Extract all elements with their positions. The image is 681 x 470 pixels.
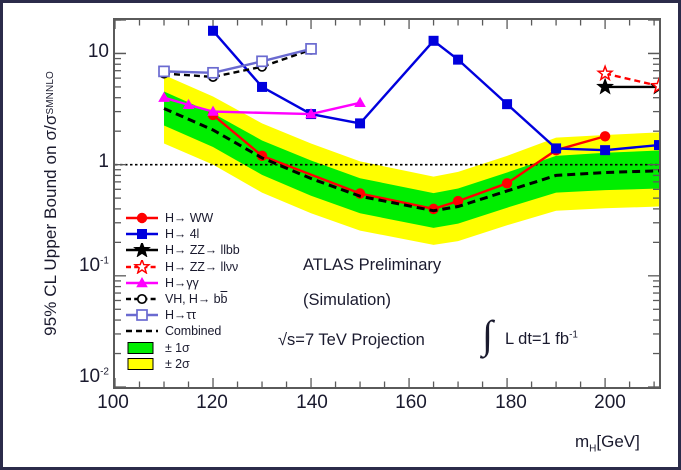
integral-icon: ∫ (482, 315, 493, 355)
x-tick-100: 100 (83, 393, 143, 412)
x-axis-title: mH[GeV] (575, 432, 640, 452)
legend-label: ± 1σ (161, 341, 190, 355)
y-tick-10: 10 (88, 42, 109, 61)
band-swatch-icon (123, 357, 161, 371)
y-tick-0.1: 10-1 (79, 256, 109, 275)
legend-item: ± 2σ (123, 356, 273, 372)
legend-label: H→γγ (161, 276, 199, 290)
x-tick-160: 160 (381, 393, 441, 412)
legend-label: H→ 4l (161, 227, 199, 241)
annotation-atlas-preliminary: ATLAS Preliminary (303, 256, 441, 275)
x-axis-tick-labels: 100 120 140 160 180 200 (0, 393, 681, 421)
chart-legend: H→ WWH→ 4lH→ ZZ→ llbbH→ ZZ→ llννH→γγVH, … (123, 210, 273, 372)
band-swatch-icon (123, 341, 161, 355)
x-tick-180: 180 (481, 393, 541, 412)
annotation-energy-projection: √s=7 TeV Projection (278, 331, 425, 350)
series-h-zz-llbb (598, 80, 659, 93)
x-tick-120: 120 (182, 393, 242, 412)
line-marker-open-star-icon (123, 260, 161, 274)
legend-label: Combined (161, 324, 221, 338)
x-tick-200: 200 (580, 393, 640, 412)
legend-item: H→ ZZ→ llbb (123, 242, 273, 258)
legend-item: H→ ZZ→ llνν (123, 259, 273, 275)
y-tick-1: 1 (98, 152, 109, 171)
legend-item: H→ 4l (123, 226, 273, 242)
line-marker-open-circle-icon (123, 292, 161, 306)
series-vh-h-bb (160, 46, 315, 82)
line-marker-filled-circle-icon (123, 211, 161, 225)
legend-item: VH, H→ bb (123, 291, 273, 307)
legend-label: H→ττ (161, 308, 196, 322)
legend-item: H→γγ (123, 275, 273, 291)
legend-label: H→ ZZ→ llνν (161, 260, 238, 274)
y-tick-0.01: 10-2 (79, 367, 109, 386)
legend-item: Combined (123, 323, 273, 339)
legend-label: H→ ZZ→ llbb (161, 243, 240, 257)
legend-label: VH, H→ bb (161, 292, 227, 306)
legend-item: ± 1σ (123, 340, 273, 356)
line-marker-filled-square-icon (123, 227, 161, 241)
legend-label: ± 2σ (161, 357, 190, 371)
line-dashed-icon (123, 324, 161, 338)
x-tick-140: 140 (282, 393, 342, 412)
line-marker-filled-star-icon (123, 243, 161, 257)
annotation-luminosity: L dt=1 fb-1 (505, 330, 578, 349)
line-marker-filled-triangle-icon (123, 276, 161, 290)
legend-item: H→ττ (123, 307, 273, 323)
legend-item: H→ WW (123, 210, 273, 226)
annotation-simulation: (Simulation) (303, 291, 391, 310)
legend-label: H→ WW (161, 211, 213, 225)
line-marker-open-square-icon (123, 308, 161, 322)
